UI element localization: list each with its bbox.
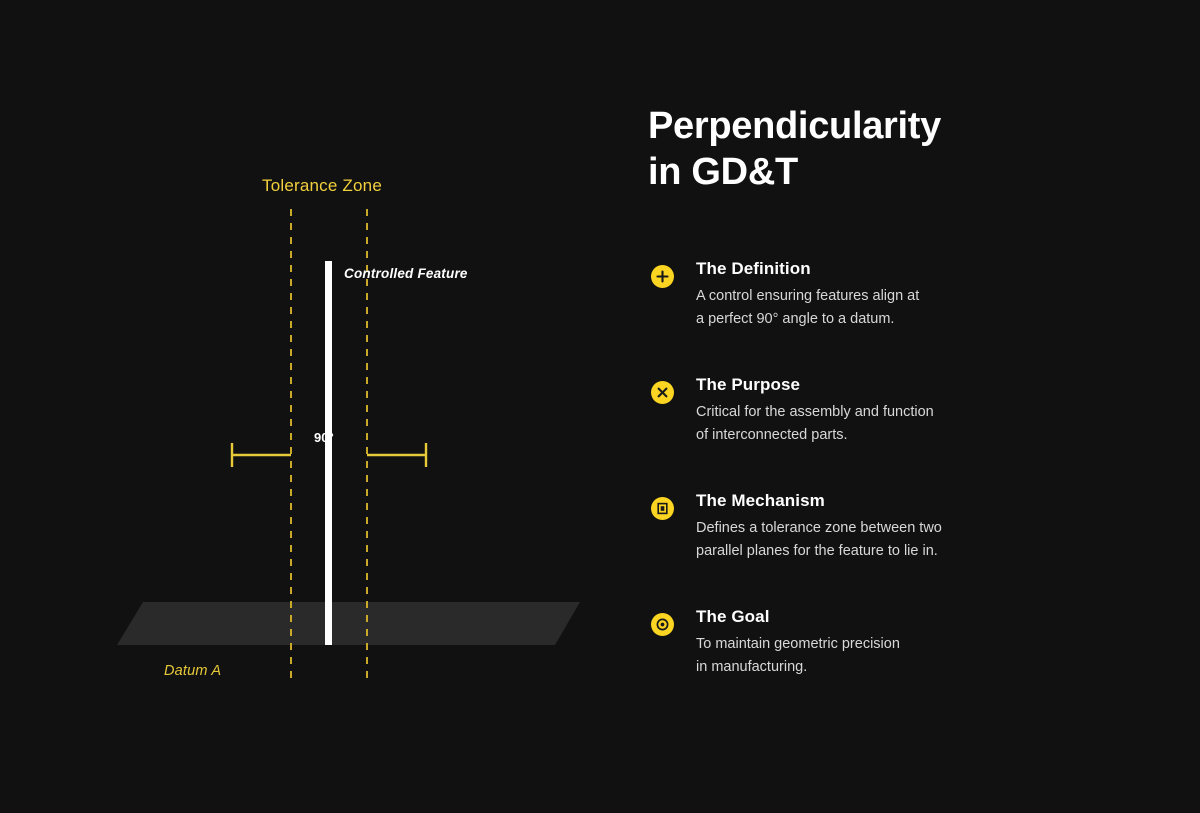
list-item-description: To maintain geometric precision in manuf… [696, 633, 1006, 679]
plus-icon [651, 265, 674, 288]
list-item-description-line-1: To maintain geometric precision [696, 636, 900, 652]
list-item-purpose: The Purpose Critical for the assembly an… [648, 374, 1108, 490]
list-item-description: A control ensuring features align at a p… [696, 285, 1006, 331]
list-item-definition: The Definition A control ensuring featur… [648, 258, 1108, 374]
list-item-description-line-1: Defines a tolerance zone between two [696, 520, 942, 536]
page-title-line-1: Perpendicularity [648, 105, 941, 147]
list-item-description: Critical for the assembly and function o… [696, 401, 1006, 447]
list-item-description-line-2: a perfect 90° angle to a datum. [696, 311, 894, 327]
list-item-description-line-1: A control ensuring features align at [696, 288, 919, 304]
list-item-description-line-2: parallel planes for the feature to lie i… [696, 543, 938, 559]
page-title-line-2: in GD&T [648, 149, 941, 195]
diagram-svg [0, 0, 620, 813]
list-item-title: The Mechanism [696, 490, 1108, 512]
list-item-description-line-1: Critical for the assembly and function [696, 404, 934, 420]
list-item-title: The Goal [696, 606, 1108, 628]
vertical-bar-icon [325, 261, 332, 645]
cross-icon [651, 381, 674, 404]
infographic-canvas: Tolerance Zone Controlled Feature 90° Da… [0, 0, 1200, 813]
datum-plane-icon [117, 602, 580, 645]
key-points-list: The Definition A control ensuring featur… [648, 258, 1108, 722]
list-item-mechanism: The Mechanism Defines a tolerance zone b… [648, 490, 1108, 606]
list-item-description-line-2: in manufacturing. [696, 659, 807, 675]
page-title: Perpendicularity in GD&T [648, 103, 941, 195]
dimension-arrow-icon-right [367, 443, 427, 467]
list-item-title: The Definition [696, 258, 1108, 280]
nested-square-icon [651, 497, 674, 520]
list-item-description-line-2: of interconnected parts. [696, 427, 848, 443]
list-item-title: The Purpose [696, 374, 1108, 396]
bullseye-icon [651, 613, 674, 636]
perpendicularity-diagram: Tolerance Zone Controlled Feature 90° Da… [0, 0, 620, 813]
dimension-arrow-icon-left [231, 443, 291, 467]
list-item-goal: The Goal To maintain geometric precision… [648, 606, 1108, 722]
list-item-description: Defines a tolerance zone between two par… [696, 517, 1006, 563]
content-panel: Perpendicularity in GD&T The Definition … [648, 0, 1108, 813]
